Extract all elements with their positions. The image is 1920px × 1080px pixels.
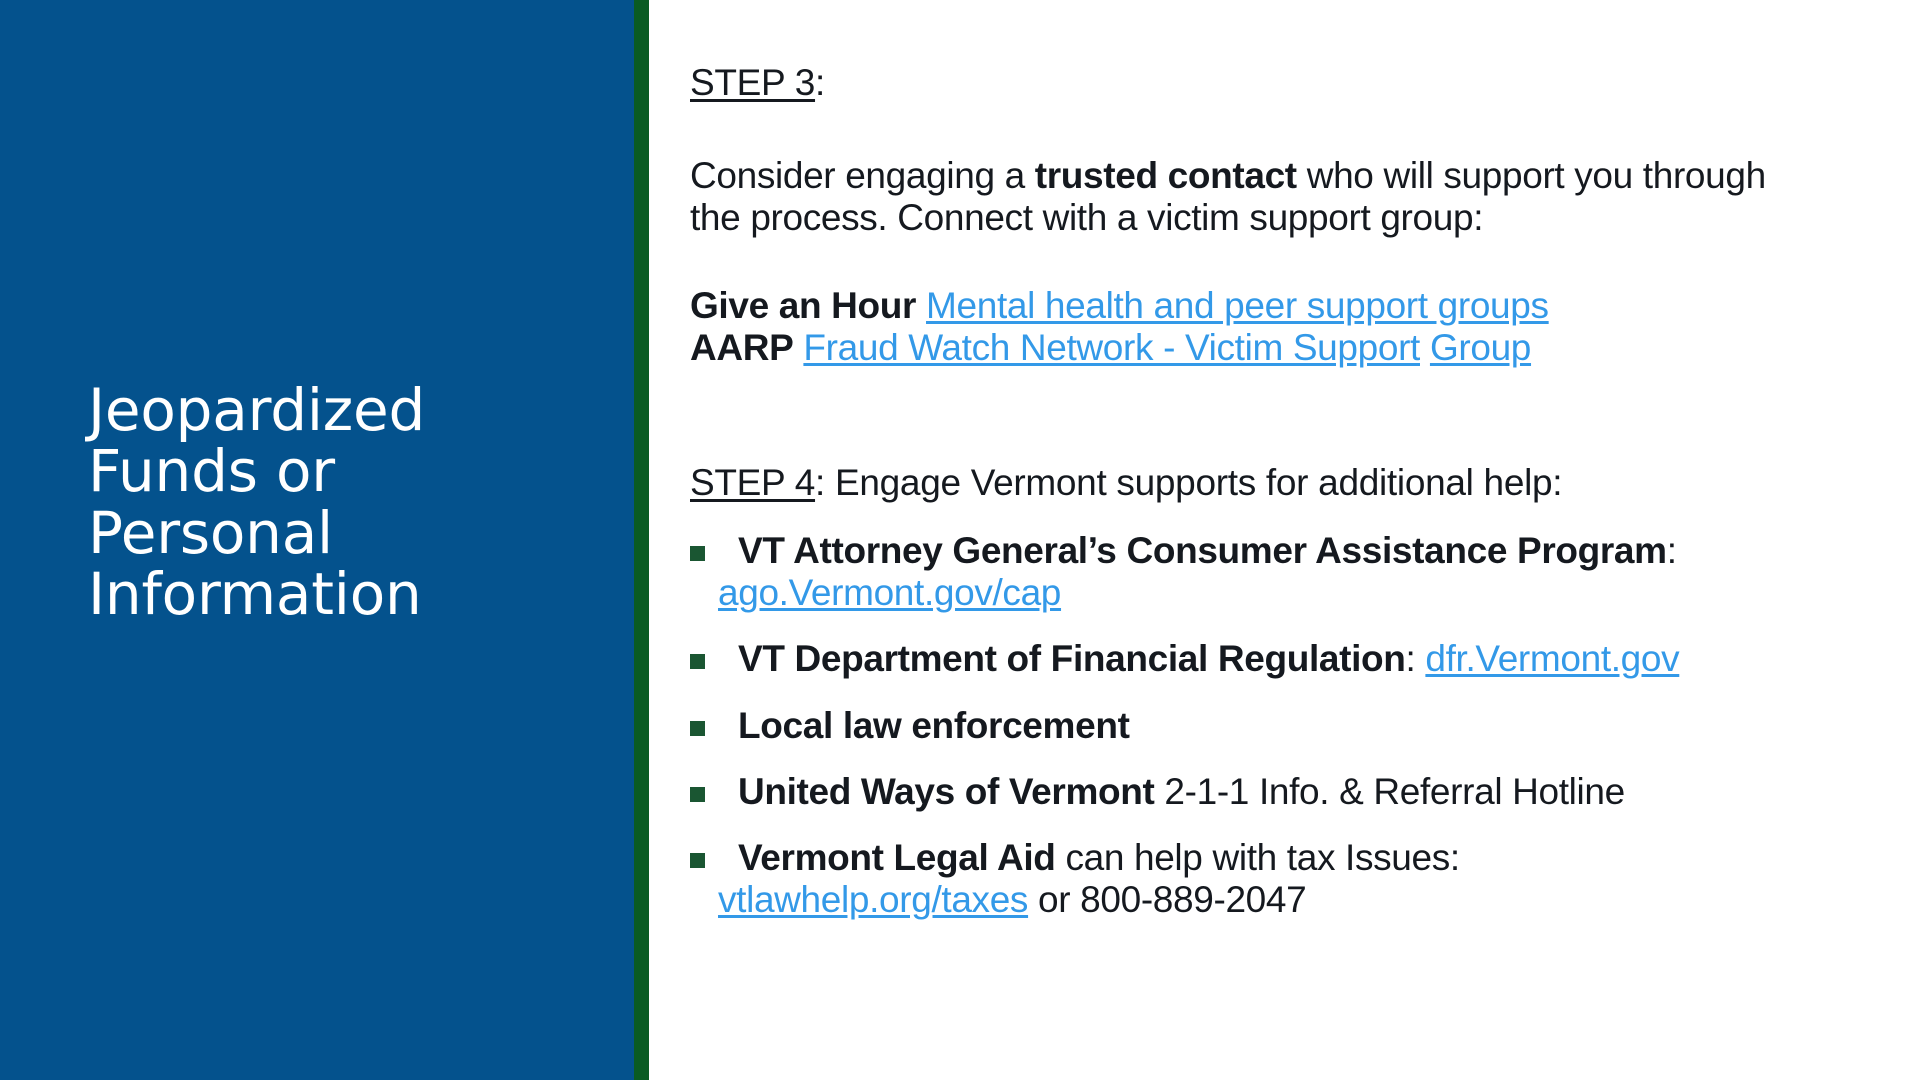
bullet-sub-line: vtlawhelp.org/taxes or 800-889-2047 xyxy=(718,879,1870,921)
bullet-sub-line: ago.Vermont.gov/cap xyxy=(718,572,1870,614)
list-item: Vermont Legal Aid can help with tax Issu… xyxy=(690,837,1870,921)
link-dfr-vermont-gov[interactable]: dfr.Vermont.gov xyxy=(1425,638,1679,679)
list-item: Local law enforcement xyxy=(690,705,1870,747)
vermont-supports-list: VT Attorney General’s Consumer Assistanc… xyxy=(690,530,1870,945)
list-item: VT Department of Financial Regulation: d… xyxy=(690,638,1870,680)
org-space-2 xyxy=(1420,327,1430,368)
page-title: Jeopardized Funds or Personal Informatio… xyxy=(88,380,558,626)
link-aarp-fraud-watch-network[interactable]: Fraud Watch Network - Victim Support xyxy=(803,327,1420,368)
org-name: AARP xyxy=(690,327,793,368)
step-4-colon: : xyxy=(815,462,825,503)
org-name: Give an Hour xyxy=(690,285,916,326)
bullet-tail: or 800-889-2047 xyxy=(1028,879,1306,920)
step-4-label: STEP 4 xyxy=(690,462,815,503)
step-4-heading-rest: Engage Vermont supports for additional h… xyxy=(825,462,1562,503)
support-group-links: Give an Hour Mental health and peer supp… xyxy=(690,285,1850,369)
org-space xyxy=(916,285,926,326)
bullet-bold-label: Local law enforcement xyxy=(738,705,1130,746)
step-3-colon: : xyxy=(815,62,825,103)
bullet-bold-label: VT Department of Financial Regulation xyxy=(738,638,1406,679)
step-3-heading: STEP 3: xyxy=(690,62,825,103)
square-bullet-icon xyxy=(690,787,705,802)
bullet-bold-label: VT Attorney General’s Consumer Assistanc… xyxy=(738,530,1667,571)
step-3-paragraph: Consider engaging a trusted contact who … xyxy=(690,155,1825,239)
bullet-bold-label: Vermont Legal Aid xyxy=(738,837,1056,878)
link-give-an-hour-groups[interactable]: Mental health and peer support groups xyxy=(926,285,1549,326)
content-area: STEP 3: Consider engaging a trusted cont… xyxy=(690,0,1870,1080)
paragraph-bold-phrase: trusted contact xyxy=(1035,155,1297,196)
bullet-plain-after: 2-1-1 Info. & Referral Hotline xyxy=(1154,771,1624,812)
bullet-plain-after: can help with tax Issues: xyxy=(1056,837,1460,878)
list-item: United Ways of Vermont 2-1-1 Info. & Ref… xyxy=(690,771,1870,813)
square-bullet-icon xyxy=(690,721,705,736)
title-block: Jeopardized Funds or Personal Informatio… xyxy=(88,380,558,626)
square-bullet-icon xyxy=(690,546,705,561)
org-line: AARP Fraud Watch Network - Victim Suppor… xyxy=(690,327,1850,369)
square-bullet-icon xyxy=(690,853,705,868)
link-ago-vermont-gov-cap[interactable]: ago.Vermont.gov/cap xyxy=(718,572,1061,613)
slide-root: Jeopardized Funds or Personal Informatio… xyxy=(0,0,1920,1080)
square-bullet-icon xyxy=(690,654,705,669)
title-panel: Jeopardized Funds or Personal Informatio… xyxy=(0,0,634,1080)
link-vtlawhelp-org-taxes[interactable]: vtlawhelp.org/taxes xyxy=(718,879,1028,920)
list-item: VT Attorney General’s Consumer Assistanc… xyxy=(690,530,1870,614)
bullet-bold-label: United Ways of Vermont xyxy=(738,771,1154,812)
step-3-label: STEP 3 xyxy=(690,62,815,103)
org-line: Give an Hour Mental health and peer supp… xyxy=(690,285,1850,327)
bullet-plain-after: : xyxy=(1667,530,1677,571)
org-space xyxy=(793,327,803,368)
vertical-divider xyxy=(634,0,649,1080)
link-aarp-group[interactable]: Group xyxy=(1430,327,1531,368)
bullet-plain-after: : xyxy=(1406,638,1426,679)
step-4-heading: STEP 4: Engage Vermont supports for addi… xyxy=(690,462,1562,503)
paragraph-pre: Consider engaging a xyxy=(690,155,1035,196)
